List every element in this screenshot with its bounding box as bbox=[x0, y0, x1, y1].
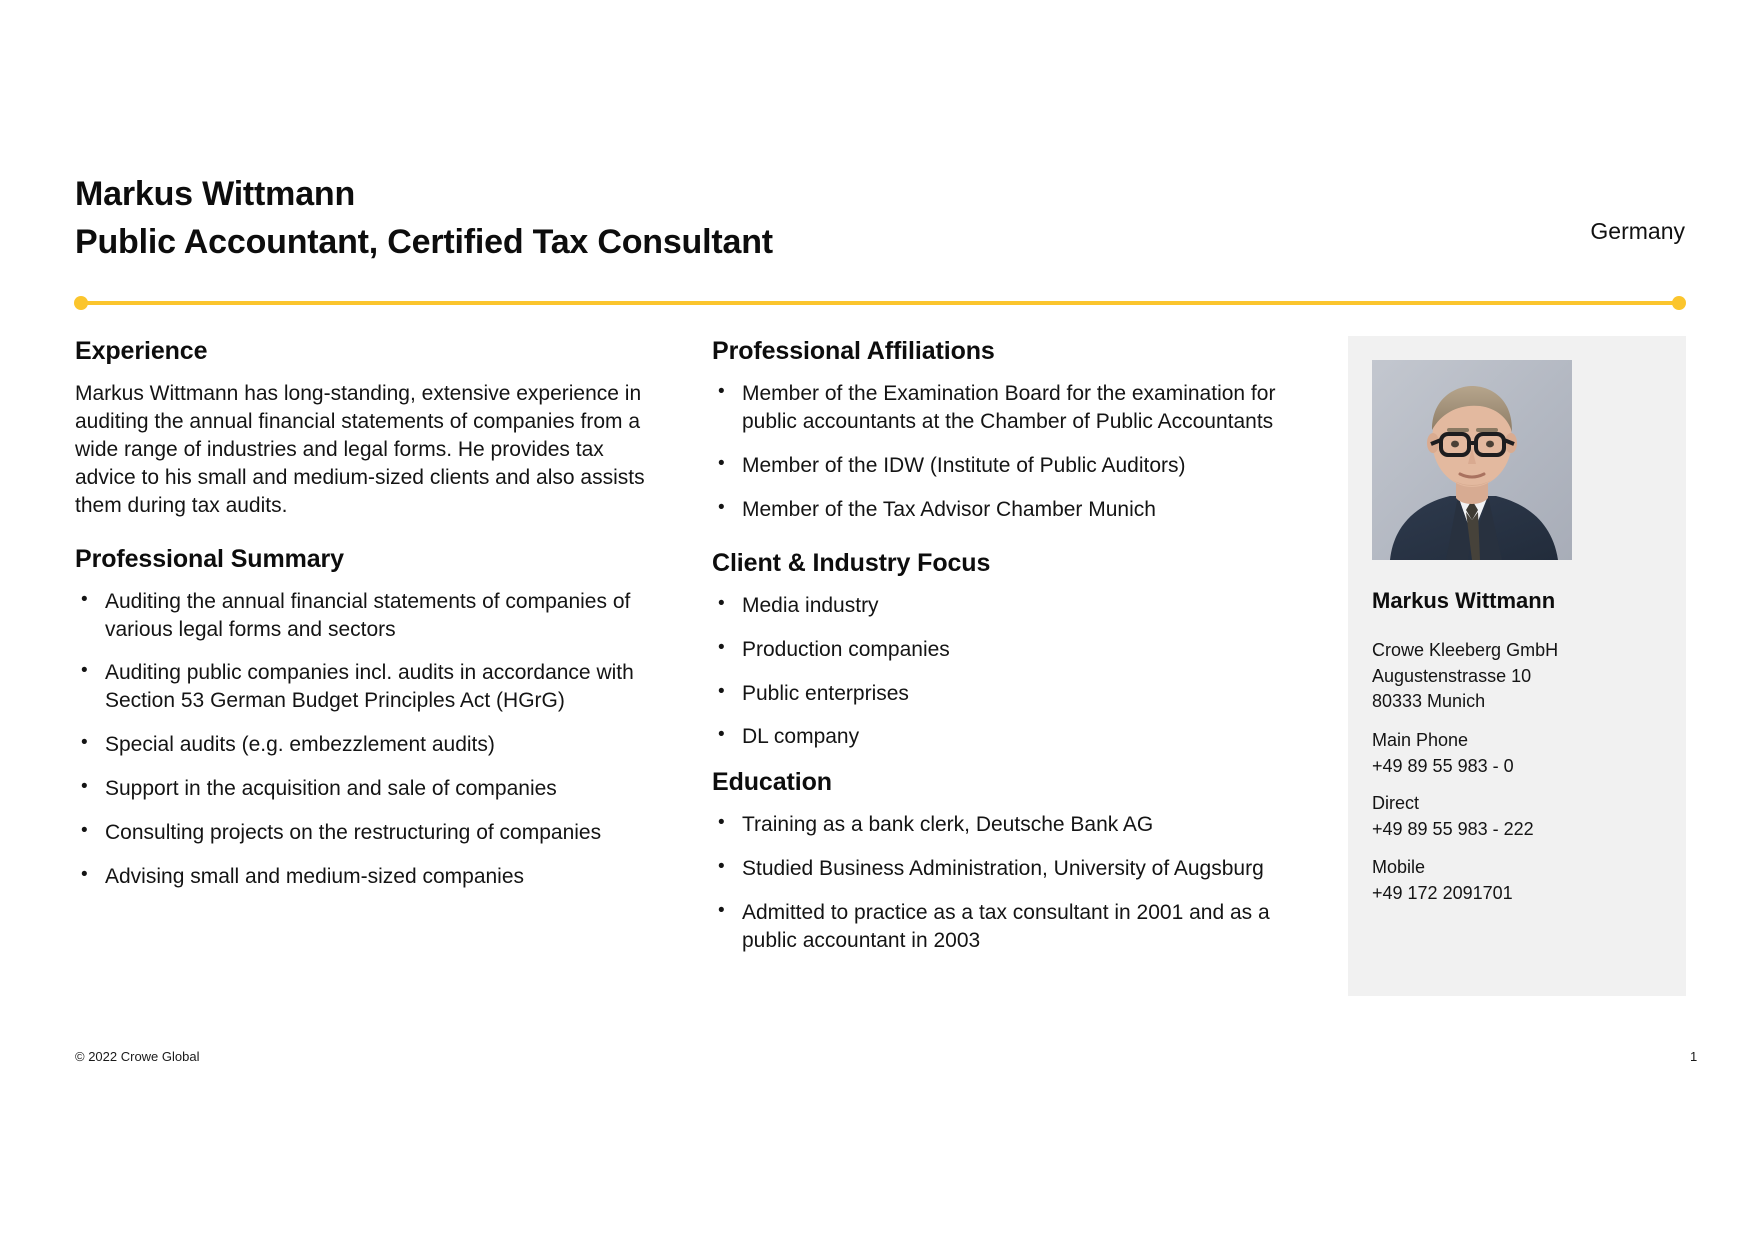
heading-professional-summary: Professional Summary bbox=[75, 544, 660, 574]
profile-page: Markus Wittmann Public Accountant, Certi… bbox=[0, 0, 1754, 1240]
list-item: Special audits (e.g. embezzlement audits… bbox=[75, 731, 660, 759]
list-item: Auditing the annual financial statements… bbox=[75, 588, 660, 644]
client-industry-focus-list: Media industry Production companies Publ… bbox=[712, 592, 1312, 752]
left-column: Experience Markus Wittmann has long-stan… bbox=[75, 336, 660, 907]
mobile-value[interactable]: +49 172 2091701 bbox=[1372, 881, 1672, 907]
list-item: Auditing public companies incl. audits i… bbox=[75, 659, 660, 715]
list-item: Member of the Examination Board for the … bbox=[712, 380, 1312, 436]
professional-summary-list: Auditing the annual financial statements… bbox=[75, 588, 660, 891]
list-item: Member of the IDW (Institute of Public A… bbox=[712, 452, 1312, 480]
heading-experience: Experience bbox=[75, 336, 660, 366]
list-item: Production companies bbox=[712, 636, 1312, 664]
list-item: Media industry bbox=[712, 592, 1312, 620]
contact-address: Crowe Kleeberg GmbH Augustenstrasse 10 8… bbox=[1372, 638, 1672, 715]
mobile-label: Mobile bbox=[1372, 855, 1672, 881]
footer-page-number: 1 bbox=[1690, 1049, 1697, 1064]
person-role-title: Public Accountant, Certified Tax Consult… bbox=[75, 218, 773, 266]
main-phone-value[interactable]: +49 89 55 983 - 0 bbox=[1372, 754, 1672, 780]
portrait-photo-icon bbox=[1372, 360, 1572, 560]
list-item: Member of the Tax Advisor Chamber Munich bbox=[712, 496, 1312, 524]
main-phone-label: Main Phone bbox=[1372, 728, 1672, 754]
title-block: Markus Wittmann Public Accountant, Certi… bbox=[75, 170, 773, 267]
person-name-title: Markus Wittmann bbox=[75, 170, 773, 218]
experience-paragraph: Markus Wittmann has long-standing, exten… bbox=[75, 380, 660, 520]
list-item: Training as a bank clerk, Deutsche Bank … bbox=[712, 811, 1312, 839]
address-line: 80333 Munich bbox=[1372, 689, 1672, 715]
heading-professional-affiliations: Professional Affiliations bbox=[712, 336, 1312, 366]
contact-direct-phone: Direct +49 89 55 983 - 222 bbox=[1372, 791, 1672, 842]
list-item: Advising small and medium-sized companie… bbox=[75, 863, 660, 891]
professional-affiliations-list: Member of the Examination Board for the … bbox=[712, 380, 1312, 524]
heading-education: Education bbox=[712, 767, 1312, 797]
divider-dot-right-icon bbox=[1672, 296, 1686, 310]
page-header: Markus Wittmann Public Accountant, Certi… bbox=[75, 170, 1685, 267]
contact-card: Markus Wittmann Crowe Kleeberg GmbH Augu… bbox=[1348, 336, 1686, 996]
divider-line bbox=[75, 301, 1685, 305]
address-line: Augustenstrasse 10 bbox=[1372, 664, 1672, 690]
education-list: Training as a bank clerk, Deutsche Bank … bbox=[712, 811, 1312, 955]
country-label: Germany bbox=[1590, 218, 1685, 245]
list-item: Public enterprises bbox=[712, 680, 1312, 708]
list-item: Admitted to practice as a tax consultant… bbox=[712, 899, 1312, 955]
heading-client-industry-focus: Client & Industry Focus bbox=[712, 548, 1312, 578]
accent-divider bbox=[75, 296, 1685, 310]
direct-label: Direct bbox=[1372, 791, 1672, 817]
list-item: DL company bbox=[712, 723, 1312, 751]
direct-value[interactable]: +49 89 55 983 - 222 bbox=[1372, 817, 1672, 843]
list-item: Studied Business Administration, Univers… bbox=[712, 855, 1312, 883]
contact-name: Markus Wittmann bbox=[1372, 588, 1555, 614]
list-item: Consulting projects on the restructuring… bbox=[75, 819, 660, 847]
contact-main-phone: Main Phone +49 89 55 983 - 0 bbox=[1372, 728, 1672, 779]
contact-mobile-phone: Mobile +49 172 2091701 bbox=[1372, 855, 1672, 906]
list-item: Support in the acquisition and sale of c… bbox=[75, 775, 660, 803]
middle-column: Professional Affiliations Member of the … bbox=[712, 336, 1312, 971]
avatar bbox=[1372, 360, 1572, 560]
address-line: Crowe Kleeberg GmbH bbox=[1372, 638, 1672, 664]
footer-copyright: © 2022 Crowe Global bbox=[75, 1049, 199, 1064]
